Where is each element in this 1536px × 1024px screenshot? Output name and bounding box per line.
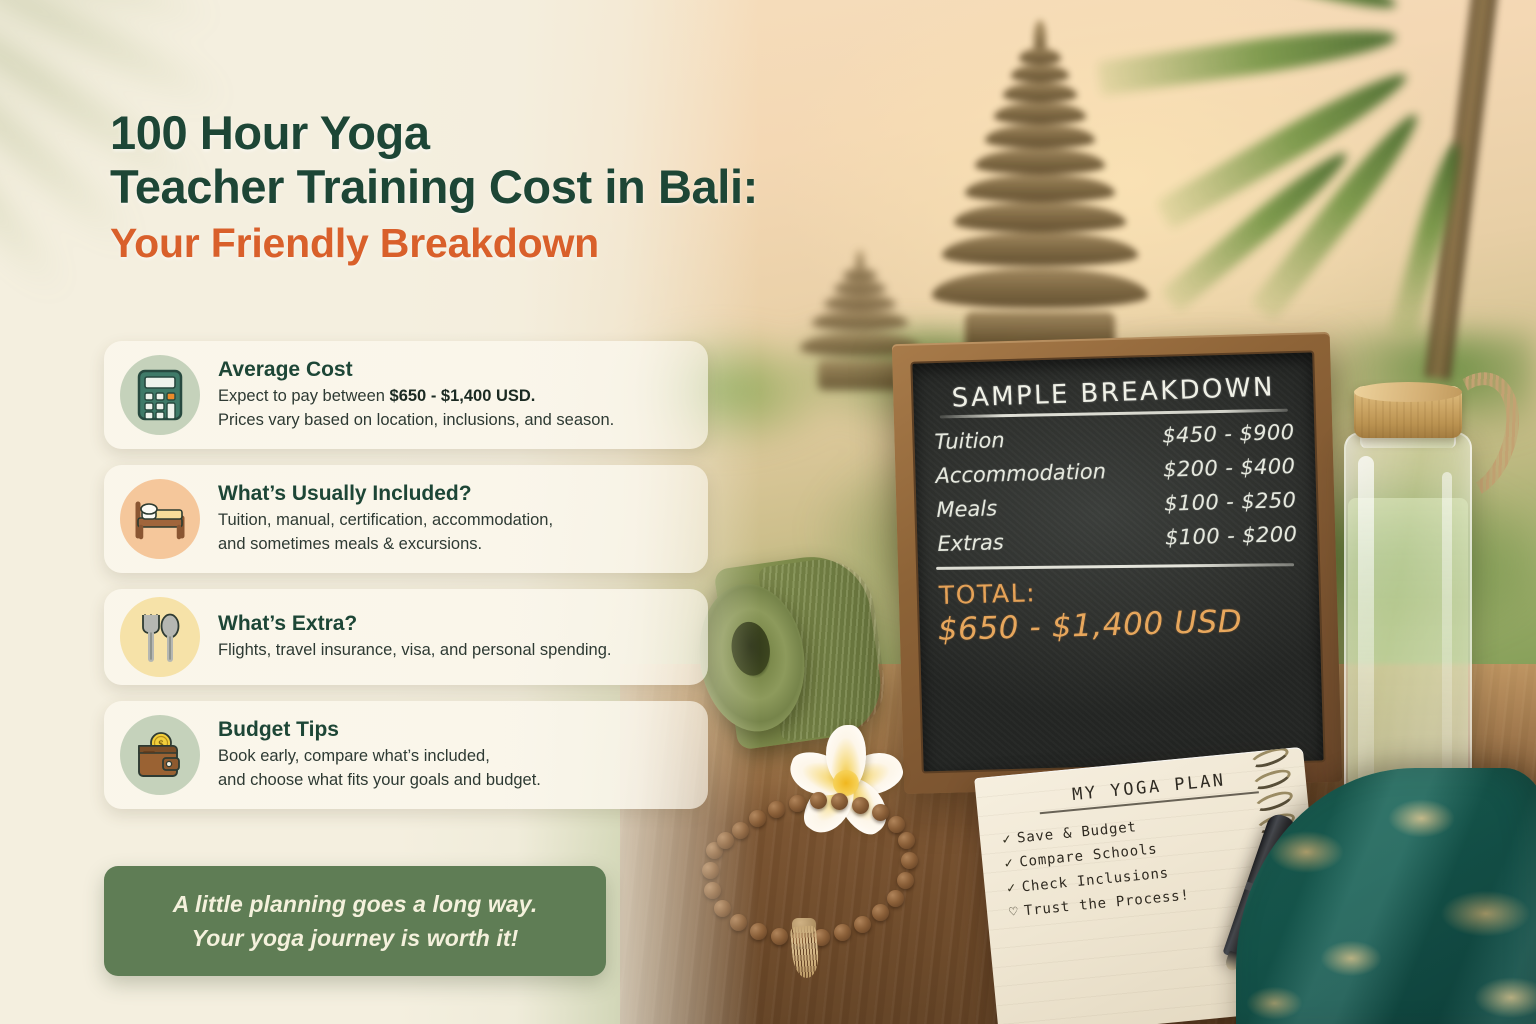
page-subtitle: Your Friendly Breakdown <box>110 220 910 267</box>
chalkboard-row-value: $200 - $400 <box>1163 454 1296 482</box>
chalkboard-row-label: Tuition <box>934 428 1005 454</box>
info-card-whats-extra[interactable]: What’s Extra? Flights, travel insurance,… <box>104 589 708 685</box>
glass-water-bottle <box>1336 376 1496 812</box>
chalkboard-row-label: Extras <box>937 530 1004 556</box>
title-line-1: 100 Hour Yoga <box>110 106 910 160</box>
infographic-canvas: SAMPLE BREAKDOWN Tuition $450 - $900 Acc… <box>0 0 1536 1024</box>
info-card-budget-tips[interactable]: $ Budget Tips Book early, compare what’s… <box>104 701 708 809</box>
wallet-coin-icon: $ <box>120 715 200 795</box>
chalkboard-title: SAMPLE BREAKDOWN <box>931 372 1296 415</box>
chalkboard-sample-breakdown: SAMPLE BREAKDOWN Tuition $450 - $900 Acc… <box>892 332 1342 794</box>
left-content-column: 100 Hour Yoga Teacher Training Cost in B… <box>0 0 760 1024</box>
price-range-highlight: $650 - $1,400 USD. <box>390 387 536 405</box>
chalkboard-row-value: $100 - $200 <box>1165 522 1298 550</box>
chalkboard-total-value: $650 - $1,400 USD <box>937 602 1302 648</box>
card-title: Average Cost <box>218 358 614 382</box>
card-line-1: Expect to pay between $650 - $1,400 USD. <box>218 385 614 408</box>
quote-line-2: Your yoga journey is worth it! <box>192 921 519 956</box>
bed-icon <box>120 479 200 559</box>
chalkboard-row-label: Meals <box>936 496 997 522</box>
palm-fronds-top-right <box>1096 0 1536 310</box>
chalkboard-row: Extras $100 - $200 <box>937 522 1298 556</box>
title-line-2: Teacher Training Cost in Bali: <box>110 160 910 214</box>
card-title: What’s Usually Included? <box>218 482 553 506</box>
card-line-2: and choose what fits your goals and budg… <box>218 769 541 792</box>
page-title: 100 Hour Yoga Teacher Training Cost in B… <box>110 106 910 267</box>
chalkboard-row-value: $450 - $900 <box>1162 420 1295 448</box>
info-card-average-cost[interactable]: Average Cost Expect to pay between $650 … <box>104 341 708 449</box>
closing-quote-box: A little planning goes a long way. Your … <box>104 866 606 976</box>
info-card-list: Average Cost Expect to pay between $650 … <box>104 341 708 825</box>
chalkboard-row: Meals $100 - $250 <box>936 488 1297 522</box>
fork-spoon-icon <box>120 597 200 677</box>
chalkboard-row: Accommodation $200 - $400 <box>935 454 1296 488</box>
chalkboard-row-value: $100 - $250 <box>1164 488 1297 516</box>
card-line-1: Tuition, manual, certification, accommod… <box>218 509 553 532</box>
calculator-icon <box>120 355 200 435</box>
info-card-whats-included[interactable]: What’s Usually Included? Tuition, manual… <box>104 465 708 573</box>
chalkboard-row: Tuition $450 - $900 <box>934 420 1295 454</box>
card-title: What’s Extra? <box>218 612 611 636</box>
chalkboard-row-label: Accommodation <box>935 459 1106 488</box>
chalkboard-total-divider <box>936 563 1294 570</box>
card-line-1: Book early, compare what’s included, <box>218 745 541 768</box>
card-title: Budget Tips <box>218 718 541 742</box>
card-line-2: Prices vary based on location, inclusion… <box>218 409 614 432</box>
card-line-2: and sometimes meals & excursions. <box>218 533 553 556</box>
quote-line-1: A little planning goes a long way. <box>173 887 538 922</box>
card-line-1: Flights, travel insurance, visa, and per… <box>218 639 611 662</box>
